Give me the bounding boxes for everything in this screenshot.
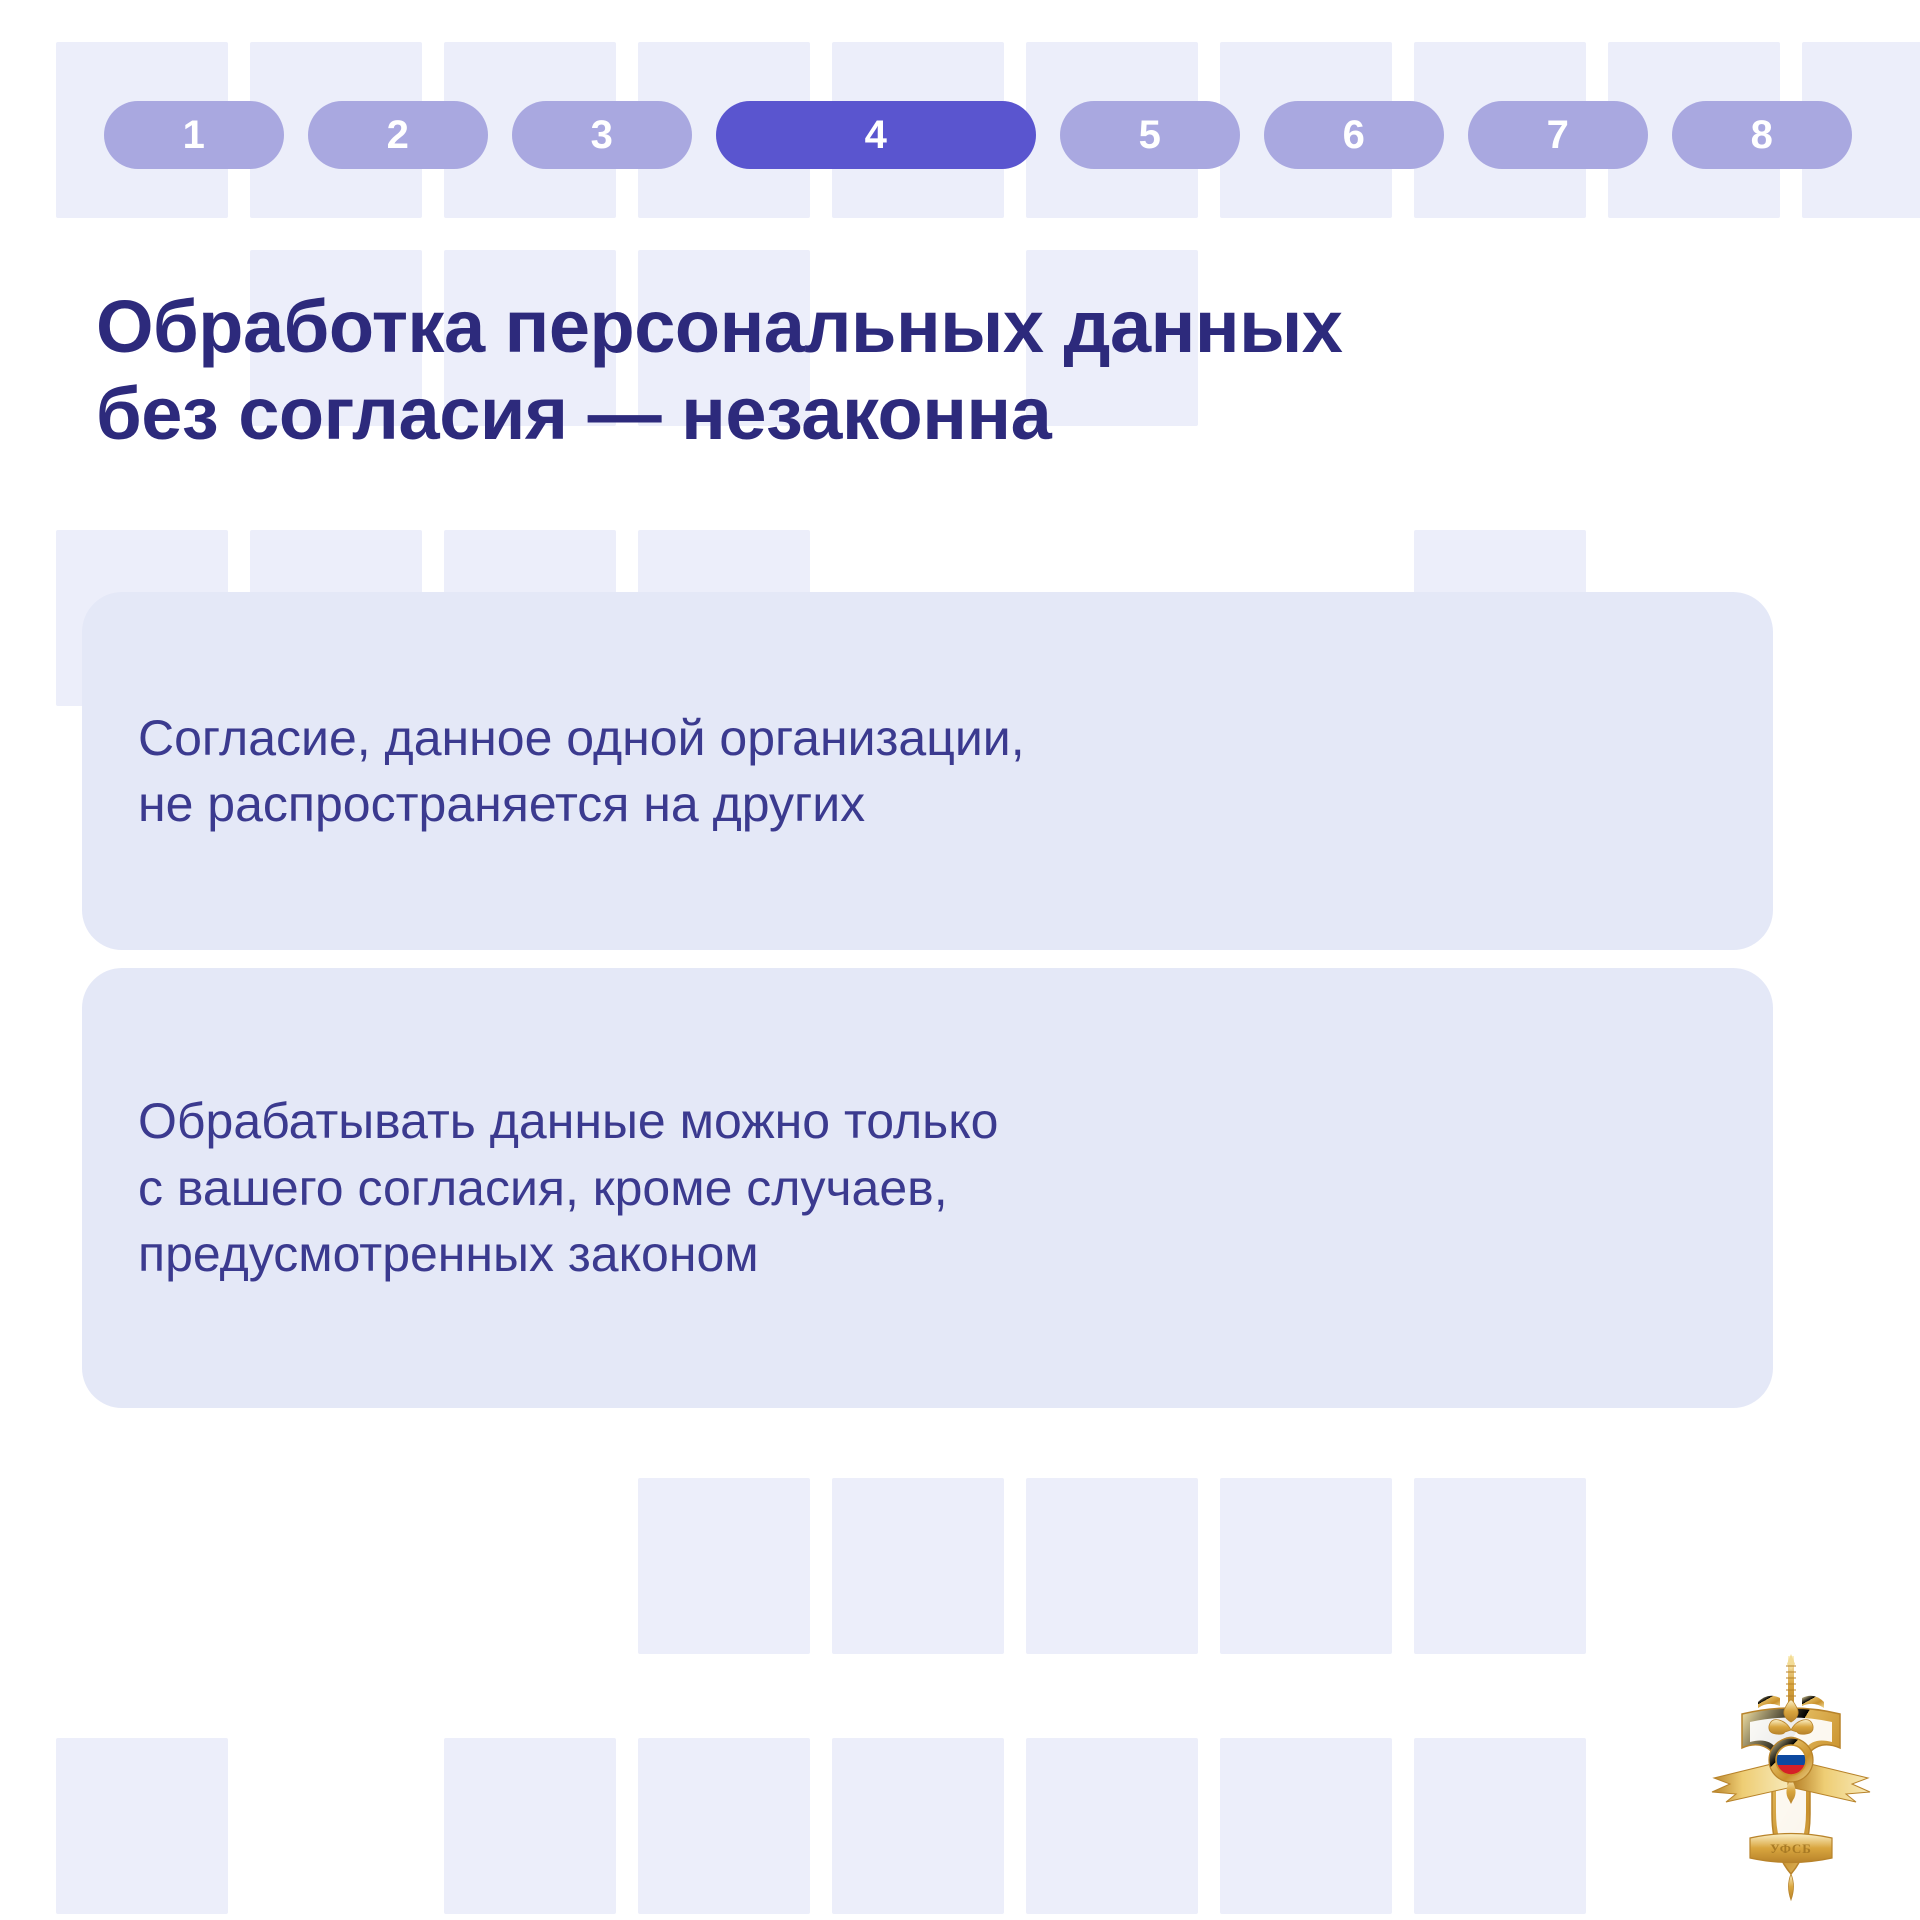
background-tile [1414,1478,1586,1654]
stepper-pill-2[interactable]: 2 [308,101,488,169]
stepper-pill-5[interactable]: 5 [1060,101,1240,169]
background-tile [56,1738,228,1914]
background-tile [1220,1478,1392,1654]
page-title: Обработка персональных данных без соглас… [96,284,1816,457]
background-tile [638,1478,810,1654]
slide-root: 12345678 Обработка персональных данных б… [0,0,1920,1920]
stepper-pill-8[interactable]: 8 [1672,101,1852,169]
stepper-pill-1[interactable]: 1 [104,101,284,169]
stepper-pill-7[interactable]: 7 [1468,101,1648,169]
stepper-pill-6[interactable]: 6 [1264,101,1444,169]
background-tile [832,1738,1004,1914]
emblem-ribbon: УФСБ [1750,1834,1832,1863]
background-tile [638,1738,810,1914]
info-card-2-text: Обрабатывать данные можно только с вашег… [138,1088,998,1288]
background-tile [832,1478,1004,1654]
info-card-1: Согласие, данное одной организации, не р… [82,592,1773,950]
cards-container: Согласие, данное одной организации, не р… [82,592,1773,1408]
stepper: 12345678 [104,101,1852,169]
emblem-spike [1789,1874,1794,1900]
fsb-emblem-icon: УФСБ [1696,1652,1886,1902]
background-tile [1026,1478,1198,1654]
background-tile [444,1738,616,1914]
stepper-pill-3[interactable]: 3 [512,101,692,169]
info-card-2: Обрабатывать данные можно только с вашег… [82,968,1773,1408]
emblem-medallion [1769,1738,1813,1782]
stepper-pill-4[interactable]: 4 [716,101,1036,169]
info-card-1-text: Согласие, данное одной организации, не р… [138,705,1025,838]
emblem-ribbon-text: УФСБ [1770,1841,1812,1856]
background-tile [1026,1738,1198,1914]
background-tile [1414,1738,1586,1914]
background-tile [1220,1738,1392,1914]
